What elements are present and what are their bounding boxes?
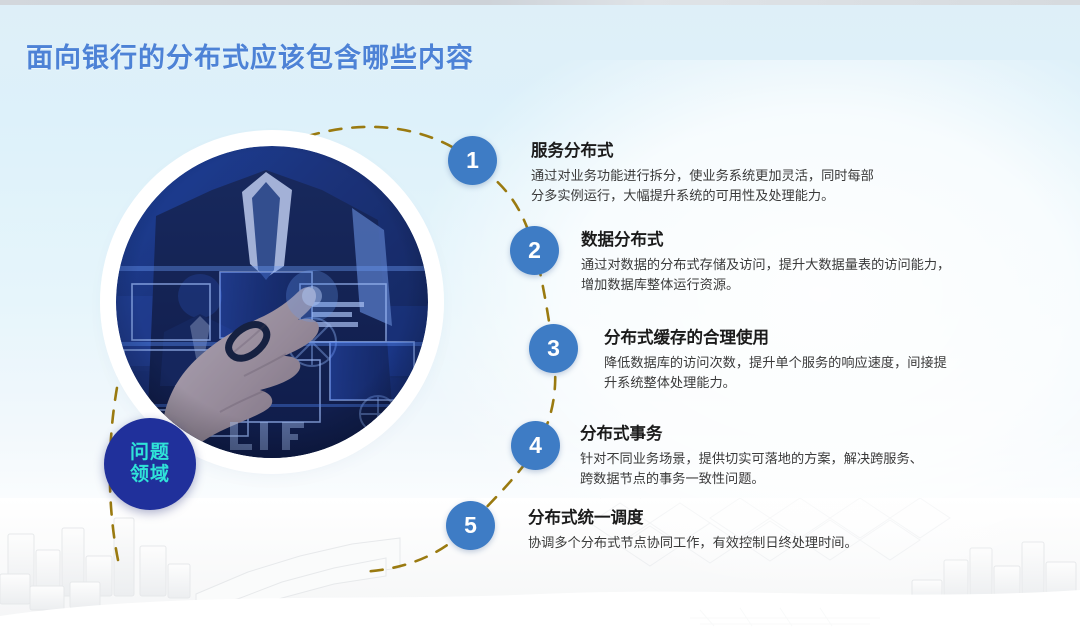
item-text-block-1: 服务分布式 通过对业务功能进行拆分，使业务系统更加灵活，同时每部 分多实例运行，… xyxy=(531,141,1001,207)
item-text-block-2: 数据分布式 通过对数据的分布式存储及访问，提升大数据量表的访问能力， 增加数据库… xyxy=(581,230,1001,296)
item-number-badge-2: 2 xyxy=(510,226,559,275)
item-heading-3: 分布式缓存的合理使用 xyxy=(604,328,1004,349)
item-body-1: 通过对业务功能进行拆分，使业务系统更加灵活，同时每部 分多实例运行，大幅提升系统… xyxy=(531,166,1001,208)
item-number-badge-5: 5 xyxy=(446,501,495,550)
item-heading-1: 服务分布式 xyxy=(531,141,1001,162)
item-body-2: 通过对数据的分布式存储及访问，提升大数据量表的访问能力， 增加数据库整体运行资源… xyxy=(581,255,1001,297)
item-body-3: 降低数据库的访问次数，提升单个服务的响应速度，间接提 升系统整体处理能力。 xyxy=(604,353,1004,395)
item-heading-4: 分布式事务 xyxy=(580,424,1000,445)
item-body-4: 针对不同业务场景，提供切实可落地的方案，解决跨服务、 跨数据节点的事务一致性问题… xyxy=(580,449,1000,491)
businessman-touching-hologram-photo xyxy=(116,146,428,458)
badge-line-2: 领域 xyxy=(130,464,170,486)
badge-line-1: 问题 xyxy=(130,442,170,464)
item-heading-2: 数据分布式 xyxy=(581,230,1001,251)
slide-canvas: 面向银行的分布式应该包含哪些内容 xyxy=(0,0,1080,628)
item-text-block-3: 分布式缓存的合理使用 降低数据库的访问次数，提升单个服务的响应速度，间接提 升系… xyxy=(604,328,1004,394)
item-number-badge-3: 3 xyxy=(529,324,578,373)
center-photo-frame xyxy=(116,146,428,458)
top-edge-strip xyxy=(0,0,1080,5)
page-title: 面向银行的分布式应该包含哪些内容 xyxy=(26,36,474,75)
item-text-block-5: 分布式统一调度 协调多个分布式节点协同工作，有效控制日终处理时间。 xyxy=(528,508,998,553)
item-heading-5: 分布式统一调度 xyxy=(528,508,998,529)
item-body-5: 协调多个分布式节点协同工作，有效控制日终处理时间。 xyxy=(528,533,998,554)
item-text-block-4: 分布式事务 针对不同业务场景，提供切实可落地的方案，解决跨服务、 跨数据节点的事… xyxy=(580,424,1000,490)
item-number-badge-1: 1 xyxy=(448,136,497,185)
problem-domain-badge: 问题 领域 xyxy=(104,418,196,510)
item-number-badge-4: 4 xyxy=(511,421,560,470)
